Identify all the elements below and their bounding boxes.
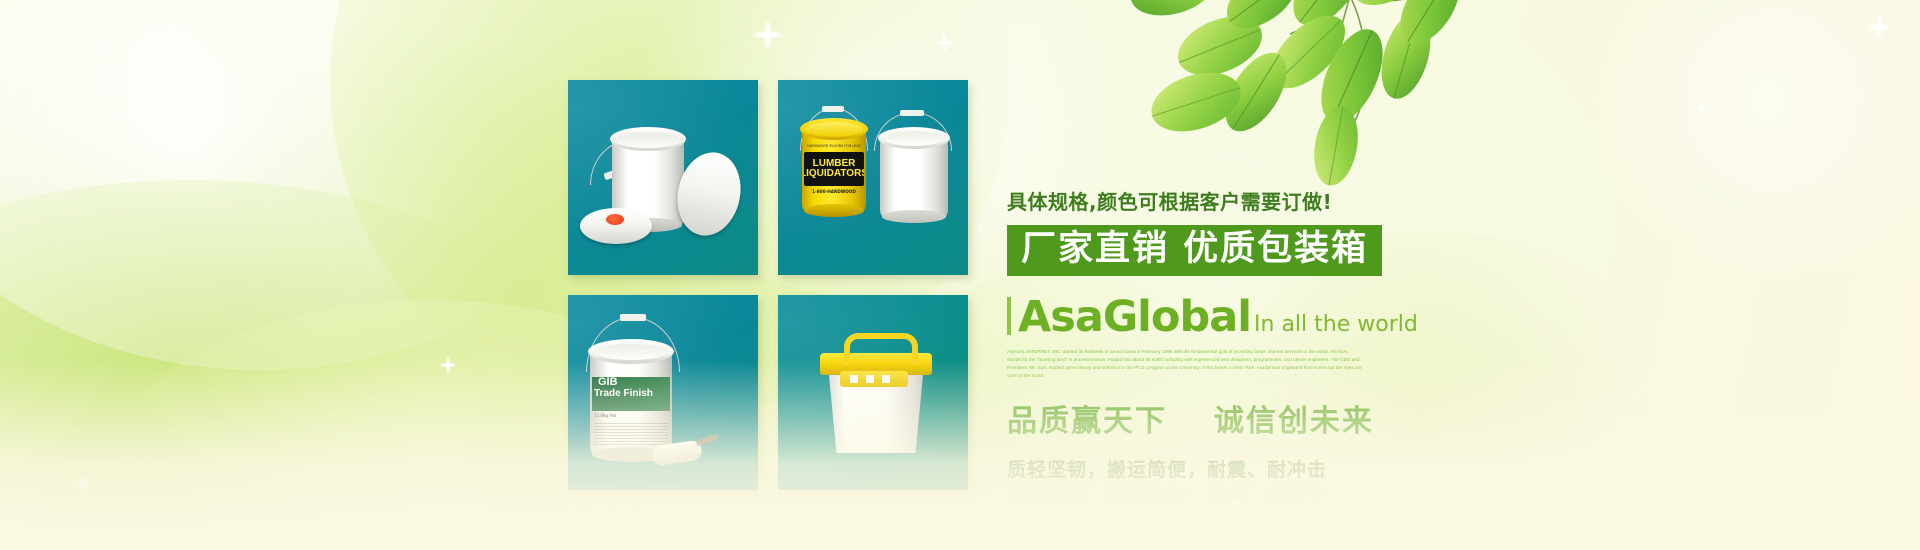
bottom-fade-overlay: [0, 360, 1920, 550]
label-bottom-text: 1-800-HARDWOOD: [805, 189, 863, 194]
leaf-branch-decoration: [1100, 0, 1580, 190]
headline-green-bar: 厂家直销 优质包装箱: [1007, 225, 1382, 276]
brand-row: AsaGlobal In all the world: [1007, 296, 1627, 339]
tagline-text: 具体规格,颜色可根据客户需要订做!: [1007, 186, 1627, 215]
lumber-liquidators-label: LUMBER LIQUIDATORS: [804, 152, 864, 186]
yellow-white-pails-art: LUMBER LIQUIDATORS HARDWOOD FLOORS FOR L…: [778, 80, 968, 275]
promo-banner: LUMBER LIQUIDATORS HARDWOOD FLOORS FOR L…: [0, 0, 1920, 550]
product-tile-white-bucket-with-lids[interactable]: [568, 80, 758, 275]
white-bucket-art: [568, 80, 758, 275]
red-spout-cap: [606, 214, 624, 225]
product-tile-yellow-and-white-pails[interactable]: LUMBER LIQUIDATORS HARDWOOD FLOORS FOR L…: [778, 80, 968, 275]
brand-accent-bar: [1007, 297, 1011, 335]
brand-tagline: In all the world: [1254, 314, 1418, 336]
headline-text: 厂家直销 优质包装箱: [1021, 232, 1368, 267]
brand-name: AsaGlobal: [1018, 296, 1251, 339]
label-line-2: LIQUIDATORS: [804, 169, 864, 179]
label-top-text: HARDWOOD FLOORS FOR LESS: [805, 144, 863, 148]
